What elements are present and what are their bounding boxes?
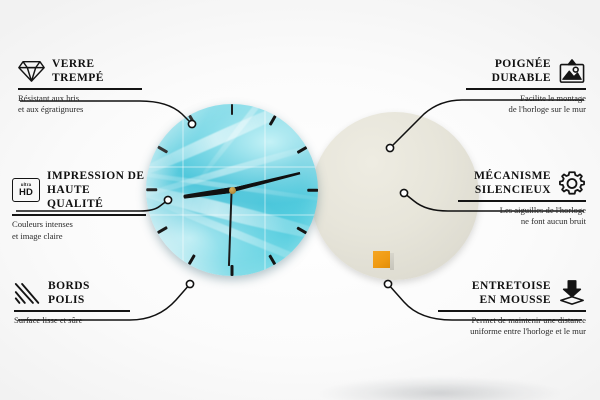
feature-verre-trempe[interactable]: VERRETREMPÉ Résistant aux briset aux égr… (18, 57, 142, 116)
feature-title: BORDSPOLIS (48, 279, 90, 307)
feature-header: MÉCANISMESILENCIEUX (458, 169, 586, 197)
feature-header: POIGNÉEDURABLE (466, 57, 586, 85)
foam-spacer (373, 251, 390, 268)
ultra-hd-icon: ultra HD (12, 178, 40, 202)
feature-subtitle: Permet de maintenir une distanceuniforme… (438, 315, 586, 339)
feature-subtitle: Facilite le montagede l'horloge sur le m… (466, 93, 586, 117)
feature-divider (458, 200, 586, 202)
feature-title: VERRETREMPÉ (52, 57, 104, 85)
hour-marker (232, 189, 318, 192)
hands-center-cap (229, 187, 236, 194)
picture-hanger-icon (558, 59, 586, 84)
feature-subtitle: Résistant aux briset aux égratignures (18, 93, 142, 117)
feature-title: IMPRESSION DEHAUTE QUALITÉ (47, 169, 146, 211)
infographic-canvas: VERRETREMPÉ Résistant aux briset aux égr… (0, 0, 600, 400)
feature-divider (18, 88, 142, 90)
clock-back-view (311, 112, 479, 280)
feature-header: BORDSPOLIS (14, 279, 130, 307)
feature-entretoise-mousse[interactable]: ENTRETOISEEN MOUSSE Permet de maintenir … (438, 279, 586, 338)
feature-subtitle: Couleurs intenseset image claire (12, 219, 146, 243)
feature-header: ultra HD IMPRESSION DEHAUTE QUALITÉ (12, 169, 146, 211)
feature-header: ENTRETOISEEN MOUSSE (438, 279, 586, 307)
feature-divider (466, 88, 586, 90)
feature-title: MÉCANISMESILENCIEUX (474, 169, 551, 197)
feature-mecanisme-silencieux[interactable]: MÉCANISMESILENCIEUX Les aiguilles de l'h… (458, 169, 586, 228)
feature-bords-polis[interactable]: BORDSPOLIS Surface lisse et sûre (14, 279, 130, 326)
product-drop-shadow (270, 370, 600, 400)
feature-divider (12, 214, 146, 216)
feature-divider (438, 310, 586, 312)
gear-icon (558, 170, 586, 197)
polished-edges-icon (14, 281, 41, 305)
feature-poignee-durable[interactable]: POIGNÉEDURABLE Facilite le montagede l'h… (466, 57, 586, 116)
feature-title: POIGNÉEDURABLE (492, 57, 551, 85)
feature-header: VERRETREMPÉ (18, 57, 142, 85)
feature-subtitle: Les aiguilles de l'horlogene font aucun … (458, 205, 586, 229)
feature-divider (14, 310, 130, 312)
diamond-icon (18, 59, 45, 83)
clock-front-view (146, 104, 318, 276)
feature-impression-haute-qualite[interactable]: ultra HD IMPRESSION DEHAUTE QUALITÉ Coul… (12, 169, 146, 242)
feature-subtitle: Surface lisse et sûre (14, 315, 130, 327)
feature-title: ENTRETOISEEN MOUSSE (472, 279, 551, 307)
hour-marker (231, 104, 234, 190)
foam-spacer-icon (558, 280, 586, 306)
